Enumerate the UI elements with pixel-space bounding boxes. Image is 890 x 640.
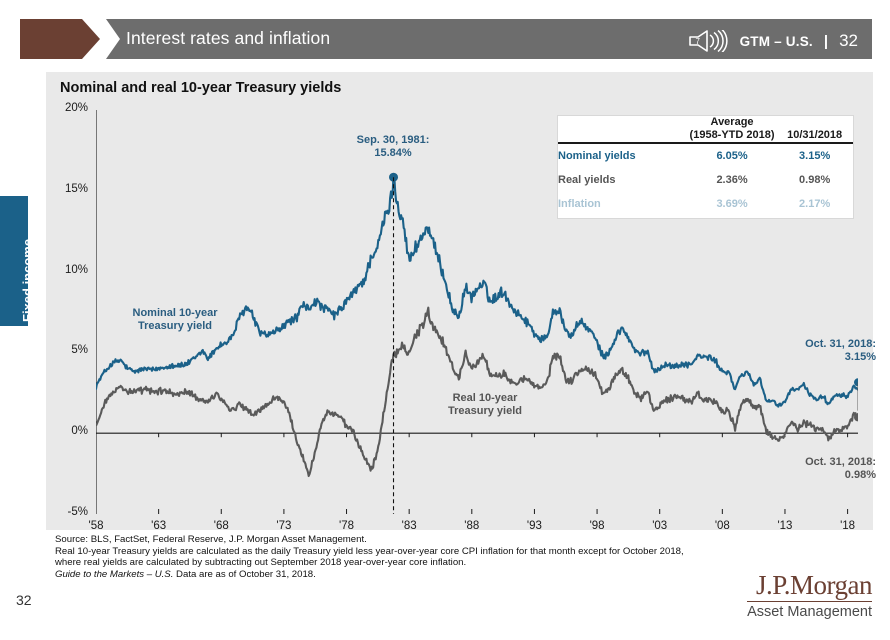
logo-subtitle: Asset Management <box>747 604 872 620</box>
speaker-icon[interactable]: 7 <box>687 30 731 52</box>
svg-text:7: 7 <box>695 37 700 46</box>
x-tick-label: '03 <box>640 520 680 532</box>
annotation-peak-line1: Sep. 30, 1981: <box>333 134 453 147</box>
annotation-oct-real: Oct. 31, 2018: 0.98% <box>772 456 876 482</box>
x-tick-label: '63 <box>139 520 179 532</box>
slide-page-number: 32 <box>16 592 32 608</box>
stats-col-average-line1: Average <box>688 116 777 129</box>
x-tick-label: '18 <box>828 520 868 532</box>
y-tick-label: -5% <box>46 506 88 518</box>
annotation-oct-nominal-line2: 3.15% <box>772 351 876 364</box>
annotation-peak-line2: 15.84% <box>333 147 453 160</box>
header-right-group: 7 GTM – U.S. | 32 <box>687 30 858 52</box>
header-gray-notch <box>106 19 120 59</box>
summary-stats-table: Average (1958-YTD 2018) 10/31/2018 Nomin… <box>557 115 854 219</box>
annotation-nominal-line1: Nominal 10-year <box>110 307 240 320</box>
annotation-oct-real-line1: Oct. 31, 2018: <box>772 456 876 469</box>
stats-row-current: 3.15% <box>776 144 853 168</box>
x-tick-label: '68 <box>201 520 241 532</box>
header-bar: Interest rates and inflation 7 GTM – U.S… <box>20 19 872 59</box>
sidebar-tab-fixed-income[interactable]: Fixed income <box>0 196 28 326</box>
stats-row-average: 3.69% <box>688 192 777 216</box>
footnote-block: Source: BLS, FactSet, Federal Reserve, J… <box>55 534 684 580</box>
annotation-oct-nominal-line1: Oct. 31, 2018: <box>772 338 876 351</box>
table-row: Real yields2.36%0.98% <box>558 168 853 192</box>
stats-row-average: 2.36% <box>688 168 777 192</box>
annotation-nominal-series: Nominal 10-year Treasury yield <box>110 307 240 333</box>
y-tick-label: 10% <box>46 264 88 276</box>
footnote-line-2: Real 10-year Treasury yields are calcula… <box>55 546 684 558</box>
page-title: Interest rates and inflation <box>126 28 330 49</box>
table-header-row: Average (1958-YTD 2018) 10/31/2018 <box>558 116 853 142</box>
stats-row-current: 2.17% <box>776 192 853 216</box>
stats-row-label: Nominal yields <box>558 144 688 168</box>
header-separator: | <box>822 33 830 50</box>
logo-wordmark: J.P.Morgan <box>747 571 872 600</box>
stats-col-blank <box>558 116 688 142</box>
table-row: Nominal yields6.05%3.15% <box>558 144 853 168</box>
stats-col-average-line2: (1958-YTD 2018) <box>688 129 777 142</box>
footnote-guide-rest: Data are as of October 31, 2018. <box>173 569 315 580</box>
stats-col-average: Average (1958-YTD 2018) <box>688 116 777 142</box>
y-tick-label: 20% <box>46 102 88 114</box>
annotation-real-line2: Treasury yield <box>425 405 545 418</box>
annotation-peak: Sep. 30, 1981: 15.84% <box>333 134 453 160</box>
annotation-real-line1: Real 10-year <box>425 392 545 405</box>
x-tick-label: '88 <box>452 520 492 532</box>
stats-row-label: Inflation <box>558 192 688 216</box>
stats-row-label: Real yields <box>558 168 688 192</box>
table-row: Inflation3.69%2.17% <box>558 192 853 216</box>
chart-title: Nominal and real 10-year Treasury yields <box>60 80 341 96</box>
x-tick-label: '83 <box>389 520 429 532</box>
header-brown-block <box>20 19 82 59</box>
x-tick-label: '08 <box>702 520 742 532</box>
y-tick-label: 0% <box>46 425 88 437</box>
sidebar-tab-label: Fixed income <box>20 239 35 322</box>
stats-table-body: Nominal yields6.05%3.15%Real yields2.36%… <box>558 144 853 216</box>
x-tick-label: '93 <box>514 520 554 532</box>
y-tick-label: 15% <box>46 183 88 195</box>
annotation-oct-nominal: Oct. 31, 2018: 3.15% <box>772 338 876 364</box>
gtm-label: GTM – U.S. <box>740 34 813 49</box>
header-brown-arrow <box>82 19 100 59</box>
jpmorgan-logo: J.P.Morgan Asset Management <box>747 571 872 620</box>
footnote-guide-italic: Guide to the Markets – U.S. <box>55 569 173 580</box>
stats-row-average: 6.05% <box>688 144 777 168</box>
stats-row-current: 0.98% <box>776 168 853 192</box>
x-tick-label: '58 <box>76 520 116 532</box>
logo-rule <box>747 601 872 602</box>
annotation-oct-real-line2: 0.98% <box>772 469 876 482</box>
annotation-nominal-line2: Treasury yield <box>110 320 240 333</box>
x-tick-label: '98 <box>577 520 617 532</box>
stats-col-date: 10/31/2018 <box>776 116 853 142</box>
footnote-line-3: where real yields are calculated by subt… <box>55 557 684 569</box>
footnote-line-4: Guide to the Markets – U.S. Data are as … <box>55 569 684 581</box>
header-page-number: 32 <box>839 31 858 51</box>
y-tick-label: 5% <box>46 344 88 356</box>
x-tick-label: '78 <box>327 520 367 532</box>
stats-table-element: Average (1958-YTD 2018) 10/31/2018 Nomin… <box>558 116 853 216</box>
footnote-line-source: Source: BLS, FactSet, Federal Reserve, J… <box>55 534 684 546</box>
annotation-real-series: Real 10-year Treasury yield <box>425 392 545 418</box>
x-tick-label: '73 <box>264 520 304 532</box>
x-tick-label: '13 <box>765 520 805 532</box>
